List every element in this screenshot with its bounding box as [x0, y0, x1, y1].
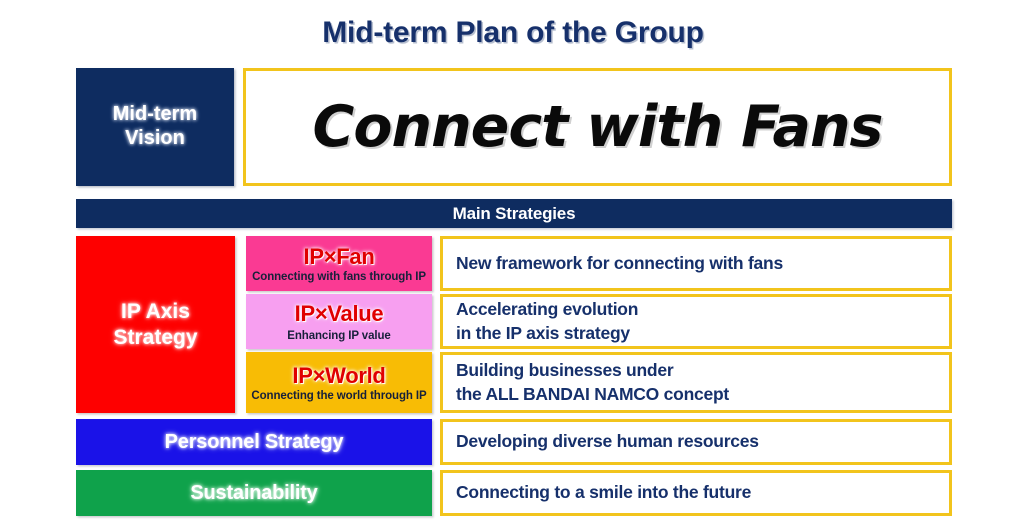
description-ip-value-text: Accelerating evolution in the IP axis st… — [456, 298, 638, 344]
pillar-ip-value-subtitle: Enhancing IP value — [287, 330, 390, 342]
description-ip-world-text: Building businesses under the ALL BANDAI… — [456, 359, 729, 405]
description-sustainability: Connecting to a smile into the future — [440, 470, 952, 516]
pillar-ip-fan-subtitle: Connecting with fans through IP — [252, 271, 426, 283]
pillar-ip-value-title: IP×Value — [295, 301, 384, 327]
pillar-ip-world-subtitle: Connecting the world through IP — [251, 390, 426, 402]
description-personnel-strategy: Developing diverse human resources — [440, 419, 952, 465]
pillar-ip-fan: IP×Fan Connecting with fans through IP — [246, 236, 432, 291]
personnel-strategy-label: Personnel Strategy — [76, 419, 432, 465]
vision-statement-box: Connect with Fans — [243, 68, 952, 186]
description-ip-fan-text: New framework for connecting with fans — [456, 252, 783, 275]
main-strategies-header: Main Strategies — [76, 199, 952, 228]
mid-term-vision-label-text: Mid-term Vision — [113, 103, 197, 150]
description-sustainability-text: Connecting to a smile into the future — [456, 481, 751, 504]
mid-term-vision-label: Mid-term Vision — [76, 68, 234, 186]
pillar-ip-world: IP×World Connecting the world through IP — [246, 352, 432, 413]
pillar-ip-world-title: IP×World — [292, 363, 385, 389]
pillar-ip-value: IP×Value Enhancing IP value — [246, 294, 432, 349]
sustainability-label-text: Sustainability — [190, 482, 317, 505]
personnel-strategy-label-text: Personnel Strategy — [165, 431, 344, 454]
main-strategies-header-text: Main Strategies — [453, 204, 576, 224]
description-ip-world: Building businesses under the ALL BANDAI… — [440, 352, 952, 413]
ip-axis-strategy-label-text: IP Axis Strategy — [113, 299, 197, 350]
page-title: Mid-term Plan of the Group — [0, 16, 1026, 50]
description-personnel-strategy-text: Developing diverse human resources — [456, 430, 759, 453]
slide-canvas: Mid-term Plan of the Group Mid-term Visi… — [0, 0, 1026, 532]
vision-statement-text: Connect with Fans — [313, 94, 883, 160]
description-ip-value: Accelerating evolution in the IP axis st… — [440, 294, 952, 349]
ip-axis-strategy-label: IP Axis Strategy — [76, 236, 235, 413]
sustainability-label: Sustainability — [76, 470, 432, 516]
pillar-ip-fan-title: IP×Fan — [304, 244, 375, 270]
description-ip-fan: New framework for connecting with fans — [440, 236, 952, 291]
